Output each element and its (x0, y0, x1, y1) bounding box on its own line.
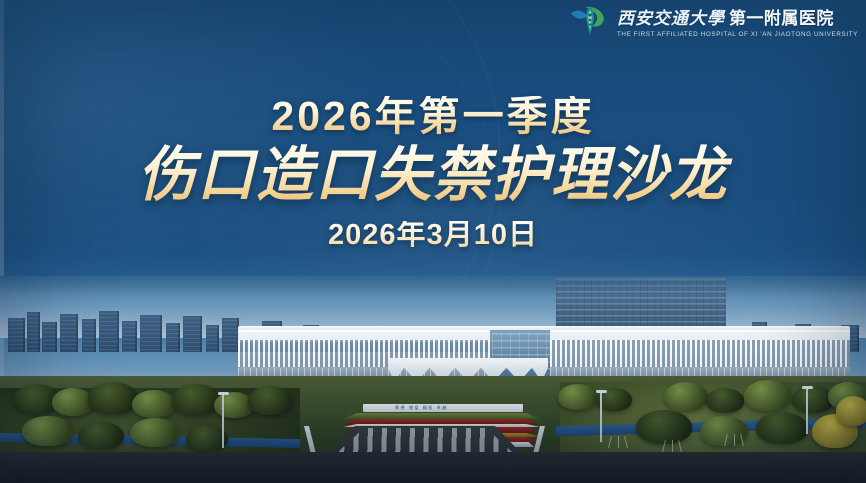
xjtu-hospital-emblem-icon (570, 4, 610, 38)
logo-university-name: 西安交通大學 (617, 4, 725, 29)
lamp-post (222, 394, 224, 448)
poster-quarter-line: 2026年第一季度 (0, 96, 866, 137)
poster-date: 2026年3月10日 (0, 221, 866, 250)
lamp-post (806, 388, 808, 434)
hospital-logo: 西安交通大學 第一附属医院 THE FIRST AFFILIATED HOSPI… (570, 4, 858, 38)
logo-hospital-name: 第一附属医院 (729, 4, 834, 29)
poster-title-block: 2026年第一季度 伤口造口失禁护理沙龙 2026年3月10日 (0, 96, 866, 250)
hospital-photo: 厚德 博爱 精医 卓越 (0, 276, 866, 483)
logo-english-name: THE FIRST AFFILIATED HOSPITAL OF XI 'AN … (617, 31, 858, 38)
roadway (0, 452, 866, 483)
poster-main-title: 伤口造口失禁护理沙龙 (0, 144, 866, 207)
lamp-post (600, 392, 602, 442)
hospital-building (0, 322, 866, 380)
flowerbed-sign-text: 厚德 博爱 精医 卓越 (395, 405, 448, 411)
event-poster: 厚德 博爱 精医 卓越 (0, 0, 866, 483)
